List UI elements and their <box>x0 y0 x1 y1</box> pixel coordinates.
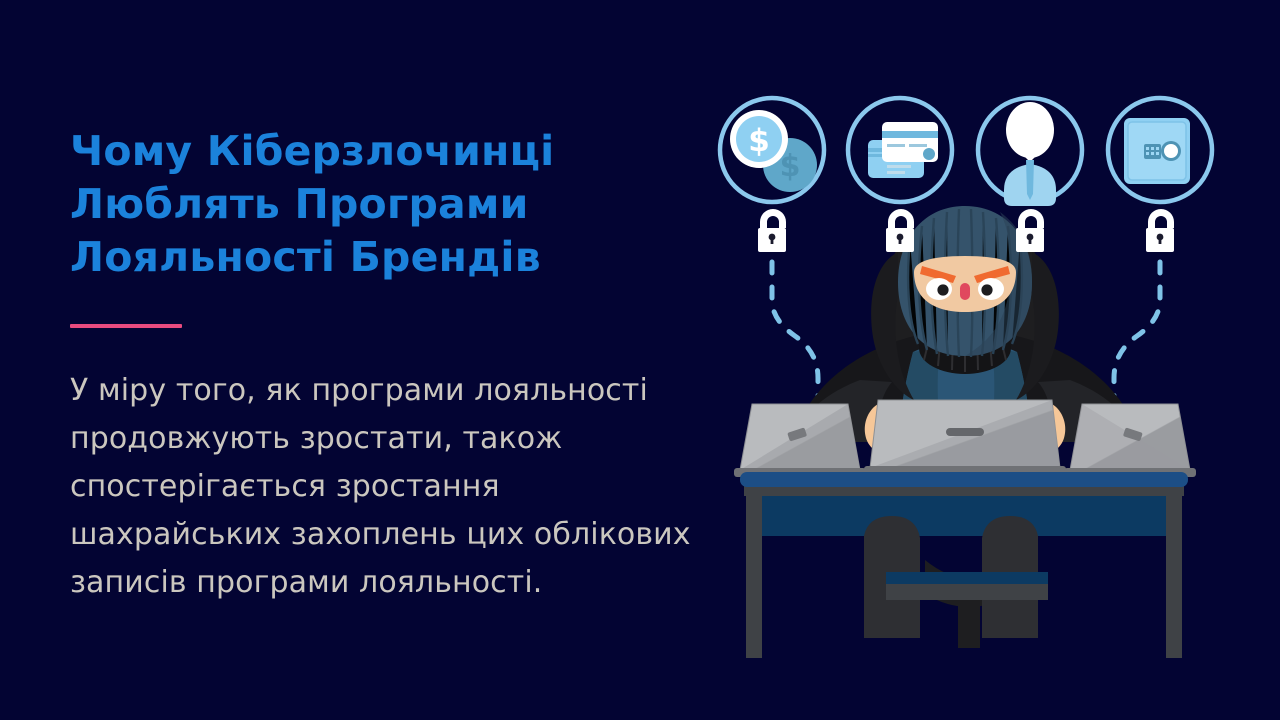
svg-text:$: $ <box>748 123 770 159</box>
laptops-group <box>734 400 1196 477</box>
badge-money-coins: $ $ <box>720 98 824 202</box>
dashed-line-4 <box>1114 262 1160 418</box>
laptop-center-logo <box>946 428 984 436</box>
hacker-nose <box>960 283 970 300</box>
laptop-left <box>734 404 866 477</box>
laptop-right <box>1064 404 1196 477</box>
badge-user-profile <box>978 98 1082 206</box>
body-paragraph: У міру того, як програми лояльності прод… <box>70 367 710 607</box>
unlocked-padlock-icon-4 <box>1146 209 1174 252</box>
badge-credit-cards <box>848 98 952 202</box>
laptop-center <box>864 400 1066 476</box>
title-divider <box>70 324 182 328</box>
credit-cards-icon <box>868 122 938 178</box>
desk-leg-right <box>1166 490 1182 658</box>
desk-leg-left <box>746 490 762 658</box>
dashed-line-1 <box>772 262 818 418</box>
illustration-hacker-scene: $ $ <box>700 0 1280 720</box>
desk-apron <box>762 496 1166 536</box>
unlocked-padlock-icon-3 <box>1016 209 1044 252</box>
unlocked-padlock-icon-1 <box>758 209 786 252</box>
user-profile-icon <box>1004 102 1056 206</box>
money-coins-icon: $ $ <box>730 110 817 192</box>
desk-top <box>740 472 1188 487</box>
text-column: Чому Кіберзлочинці Люблять Програми Лоял… <box>70 125 710 607</box>
slide-canvas: Чому Кіберзлочинці Люблять Програми Лоял… <box>0 0 1280 720</box>
page-title: Чому Кіберзлочинці Люблять Програми Лоял… <box>70 125 710 284</box>
safe-vault-icon <box>1124 118 1190 184</box>
badge-safe-vault <box>1108 98 1212 202</box>
unlocked-padlock-icon-2 <box>886 209 914 252</box>
